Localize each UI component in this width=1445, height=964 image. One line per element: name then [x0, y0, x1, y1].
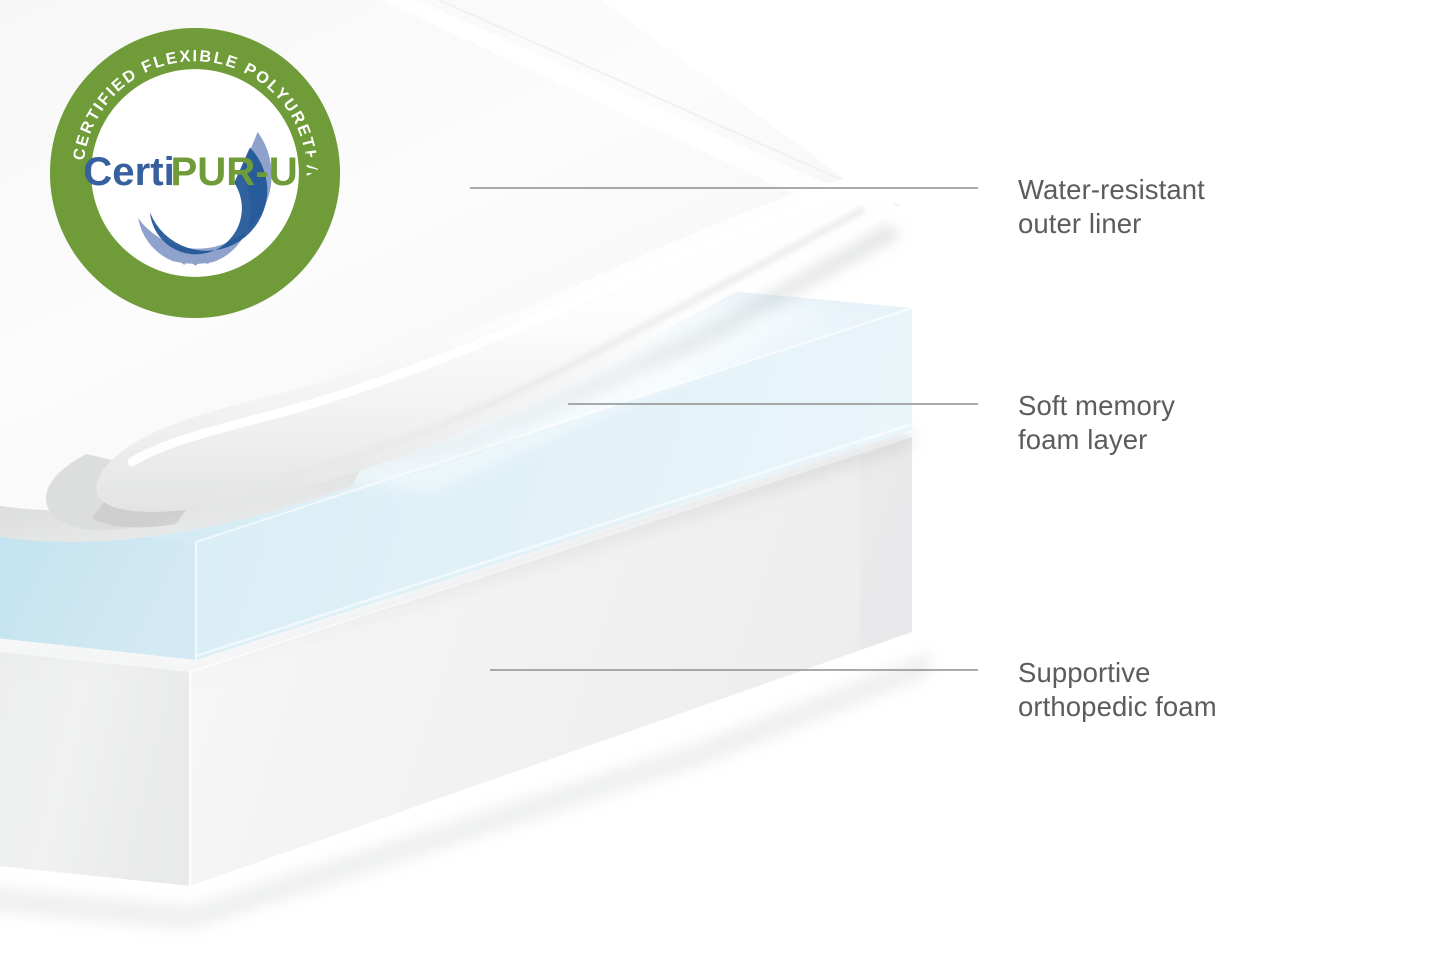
badge-registered-mark: ®	[300, 151, 311, 167]
diagram-canvas: CONTAINS CERTIFIED FLEXIBLE POLYURETHANE…	[0, 0, 1445, 964]
callout-label-outer-liner: Water-resistant outer liner	[1018, 173, 1205, 241]
badge-wordmark-certi: Certi	[83, 149, 175, 194]
badge-wordmark: Certi PUR-US ®	[83, 149, 324, 194]
certipur-us-seal-icon: CONTAINS CERTIFIED FLEXIBLE POLYURETHANE…	[48, 26, 342, 320]
callout-label-orthopedic-foam: Supportive orthopedic foam	[1018, 656, 1217, 724]
callout-label-memory-foam: Soft memory foam layer	[1018, 389, 1175, 457]
certipur-us-badge: CONTAINS CERTIFIED FLEXIBLE POLYURETHANE…	[48, 26, 342, 320]
